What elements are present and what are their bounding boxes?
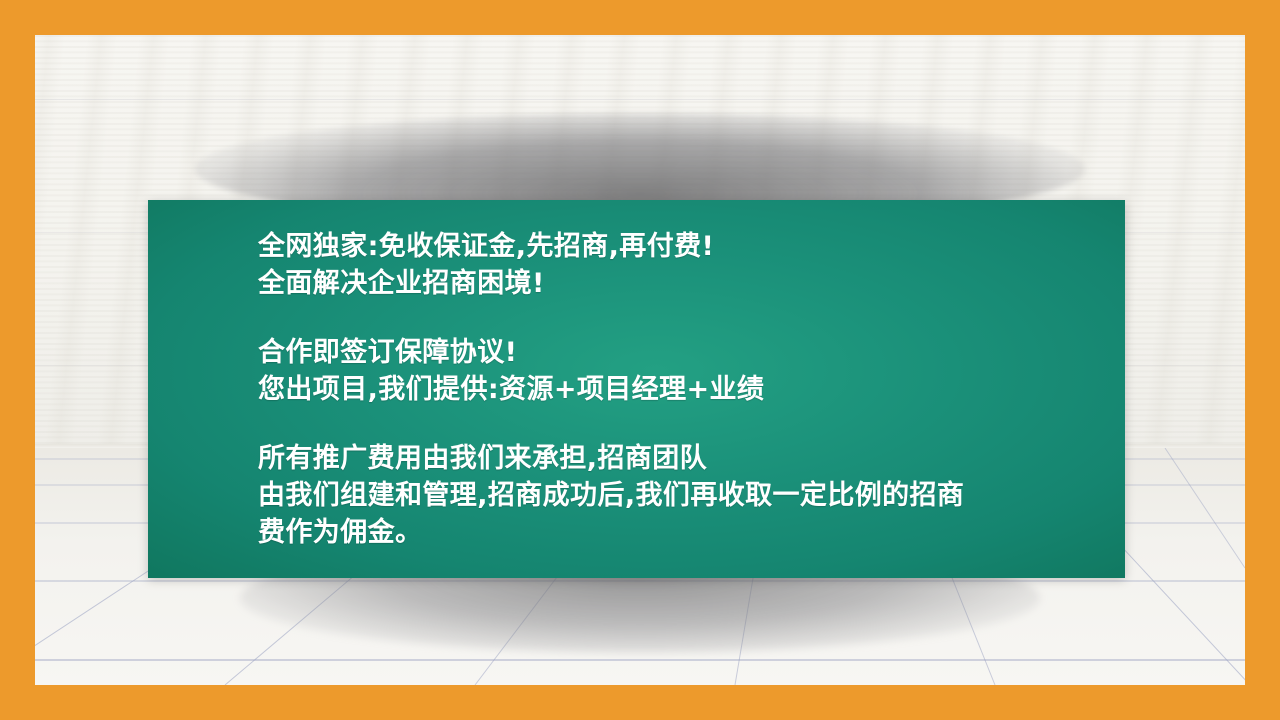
- paragraph-spacer-2: [258, 408, 1091, 440]
- paragraph-agreement: 合作即签订保障协议! 您出项目,我们提供:资源+项目经理+业绩: [258, 334, 1091, 408]
- commission-line-1: 所有推广费用由我们来承担,招商团队: [258, 440, 1091, 477]
- headline-line-1: 全网独家:免收保证金,先招商,再付费!: [258, 228, 1091, 265]
- paragraph-spacer-1: [258, 302, 1091, 334]
- slide-stage: 全网独家:免收保证金,先招商,再付费! 全面解决企业招商困境! 合作即签订保障协…: [0, 0, 1280, 720]
- green-message-panel: 全网独家:免收保证金,先招商,再付费! 全面解决企业招商困境! 合作即签订保障协…: [148, 200, 1125, 578]
- agreement-line-1: 合作即签订保障协议!: [258, 334, 1091, 371]
- headline-line-2: 全面解决企业招商困境!: [258, 265, 1091, 302]
- paragraph-headline: 全网独家:免收保证金,先招商,再付费! 全面解决企业招商困境!: [258, 228, 1091, 302]
- room-scene: 全网独家:免收保证金,先招商,再付费! 全面解决企业招商困境! 合作即签订保障协…: [35, 35, 1245, 685]
- agreement-line-2: 您出项目,我们提供:资源+项目经理+业绩: [258, 371, 1091, 408]
- commission-line-2: 由我们组建和管理,招商成功后,我们再收取一定比例的招商: [258, 477, 1091, 514]
- paragraph-commission: 所有推广费用由我们来承担,招商团队 由我们组建和管理,招商成功后,我们再收取一定…: [258, 440, 1091, 551]
- commission-line-3: 费作为佣金。: [258, 514, 1091, 551]
